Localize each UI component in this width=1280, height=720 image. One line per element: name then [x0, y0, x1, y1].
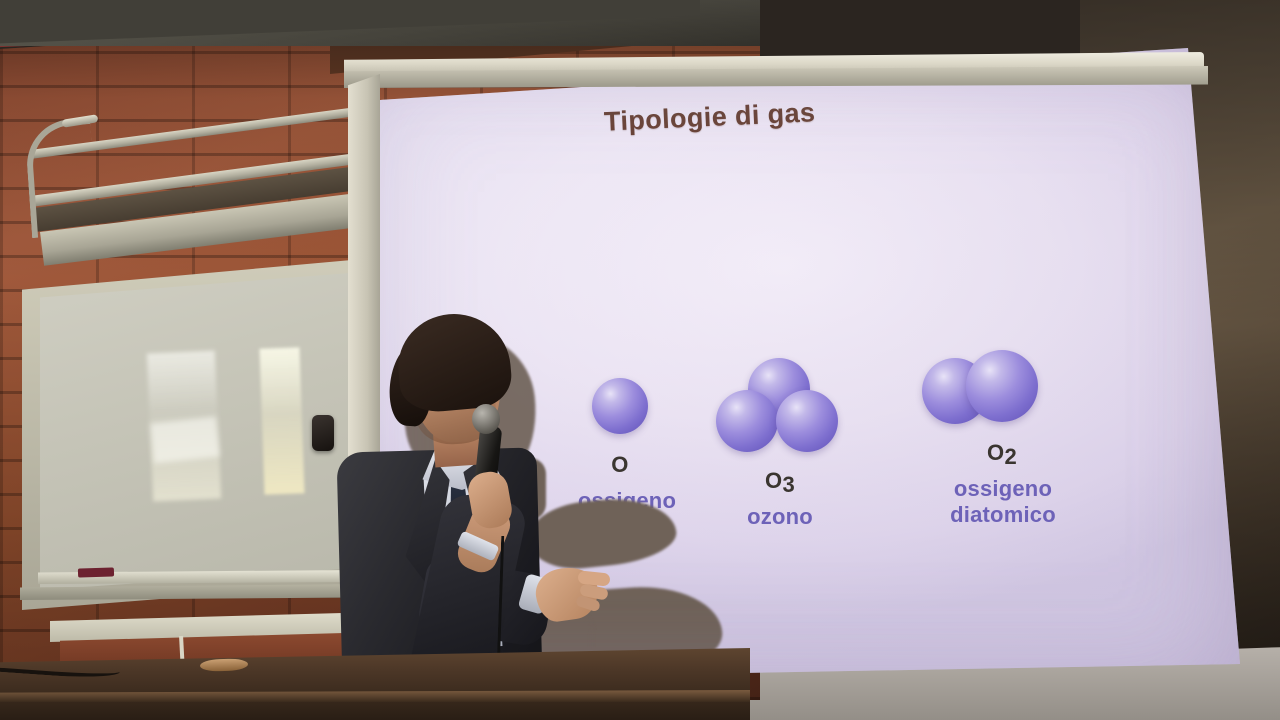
whiteboard-marker — [78, 567, 114, 577]
whiteboard-glare — [150, 417, 220, 464]
whiteboard-window-reflection-right — [259, 347, 304, 494]
speaker-hair — [394, 309, 514, 414]
microphone-head-icon — [472, 404, 500, 434]
lecture-photo: Tipologie di gas O ossigeno atomico O3 — [0, 0, 1280, 720]
